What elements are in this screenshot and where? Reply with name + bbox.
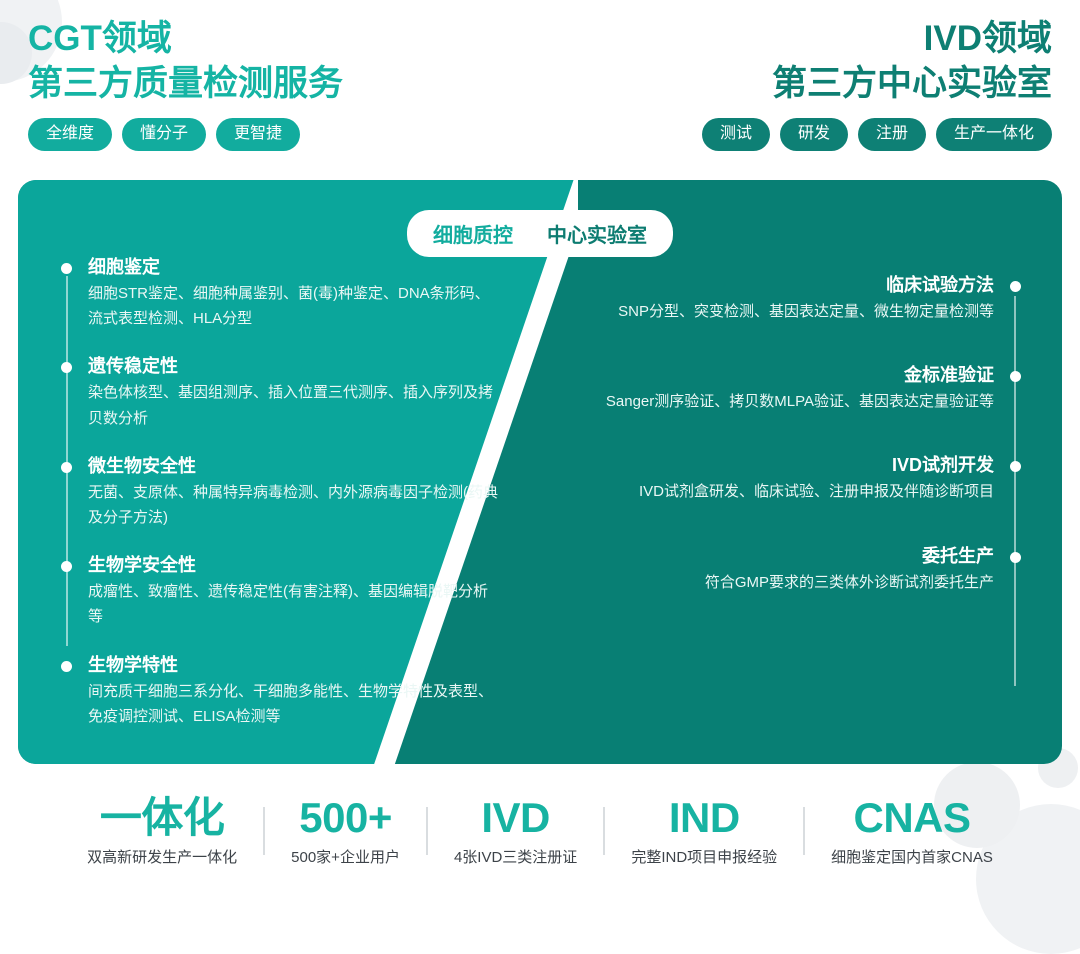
right-service-list: 临床试验方法 SNP分型、突变检测、基因表达定量、微生物定量检测等 金标准验证 … xyxy=(501,180,1062,764)
list-item[interactable]: 遗传稳定性 染色体核型、基因组测序、插入位置三代测序、插入序列及拷贝数分析 xyxy=(60,353,501,430)
bullet-dot-icon xyxy=(61,263,72,274)
ivd-title-line2: 第三方中心实验室 xyxy=(772,63,1052,106)
item-description: SNP分型、突变检测、基因表达定量、微生物定量检测等 xyxy=(564,299,994,324)
chip-quanweidu[interactable]: 全维度 xyxy=(28,118,112,151)
item-title: 微生物安全性 xyxy=(88,453,501,480)
stat-label: 双高新研发生产一体化 xyxy=(87,846,237,867)
header-left-block: CGT领域 第三方质量检测服务 全维度 懂分子 更智捷 xyxy=(28,18,343,180)
item-description: 无菌、支原体、种属特异病毒检测、内外源病毒因子检测(药典及分子方法) xyxy=(88,480,501,530)
item-description: 染色体核型、基因组测序、插入位置三代测序、插入序列及拷贝数分析 xyxy=(88,380,501,430)
stat-item-cnas: CNAS 细胞鉴定国内首家CNAS xyxy=(805,795,1019,867)
item-title: 细胞鉴定 xyxy=(88,254,501,281)
list-item[interactable]: 金标准验证 Sanger测序验证、拷贝数MLPA验证、基因表达定量验证等 xyxy=(501,362,1022,414)
list-item[interactable]: 生物学安全性 成瘤性、致瘤性、遗传稳定性(有害注释)、基因编辑脱靶分析等 xyxy=(60,552,501,629)
item-description: 符合GMP要求的三类体外诊断试剂委托生产 xyxy=(524,570,994,595)
item-description: 成瘤性、致瘤性、遗传稳定性(有害注释)、基因编辑脱靶分析等 xyxy=(88,579,501,629)
cgt-title-line1: CGT领域 xyxy=(28,18,343,61)
stat-item-integration: 一体化 双高新研发生产一体化 xyxy=(61,795,263,867)
bullet-dot-icon xyxy=(61,561,72,572)
cgt-title-line2: 第三方质量检测服务 xyxy=(28,63,343,106)
bullet-dot-icon xyxy=(1010,371,1021,382)
stat-item-ivd: IVD 4张IVD三类注册证 xyxy=(428,795,603,867)
list-item[interactable]: 细胞鉴定 细胞STR鉴定、细胞种属鉴别、菌(毒)种鉴定、DNA条形码、流式表型检… xyxy=(60,254,501,331)
chip-shengchan[interactable]: 生产一体化 xyxy=(936,118,1052,151)
item-description: 间充质干细胞三系分化、干细胞多能性、生物学特性及表型、免疫调控测试、ELISA检… xyxy=(88,679,501,729)
ivd-chip-group: 测试 研发 注册 生产一体化 xyxy=(702,118,1052,151)
chip-yanfa[interactable]: 研发 xyxy=(780,118,848,151)
list-item[interactable]: 临床试验方法 SNP分型、突变检测、基因表达定量、微生物定量检测等 xyxy=(501,272,1022,324)
tab-central-laboratory[interactable]: 中心实验室 xyxy=(547,219,647,248)
item-title: 遗传稳定性 xyxy=(88,353,501,380)
item-description: 细胞STR鉴定、细胞种属鉴别、菌(毒)种鉴定、DNA条形码、流式表型检测、HLA… xyxy=(88,281,501,331)
stat-item-customers: 500+ 500家+企业用户 xyxy=(265,795,426,867)
stat-label: 完整IND项目申报经验 xyxy=(631,846,777,867)
item-title: 金标准验证 xyxy=(501,362,994,389)
list-item[interactable]: 生物学特性 间充质干细胞三系分化、干细胞多能性、生物学特性及表型、免疫调控测试、… xyxy=(60,652,501,729)
stat-label: 细胞鉴定国内首家CNAS xyxy=(831,846,993,867)
bullet-dot-icon xyxy=(61,462,72,473)
stat-number: IVD xyxy=(481,795,550,840)
bullet-dot-icon xyxy=(61,661,72,672)
stat-label: 500家+企业用户 xyxy=(291,846,400,867)
bullet-dot-icon xyxy=(1010,281,1021,292)
item-title: 生物学安全性 xyxy=(88,552,501,579)
bullet-dot-icon xyxy=(1010,461,1021,472)
stat-number: 一体化 xyxy=(100,795,225,840)
stat-number: 500+ xyxy=(299,795,392,840)
item-title: 生物学特性 xyxy=(88,652,501,679)
item-description: IVD试剂盒研发、临床试验、注册申报及伴随诊断项目 xyxy=(524,479,994,504)
chip-zhuce[interactable]: 注册 xyxy=(858,118,926,151)
cgt-chip-group: 全维度 懂分子 更智捷 xyxy=(28,118,343,151)
chip-dongfenzi[interactable]: 懂分子 xyxy=(122,118,206,151)
tab-bar: 细胞质控 中心实验室 xyxy=(407,210,673,257)
stats-bar: 一体化 双高新研发生产一体化 500+ 500家+企业用户 IVD 4张IVD三… xyxy=(0,764,1080,892)
bullet-dot-icon xyxy=(61,362,72,373)
item-title: 临床试验方法 xyxy=(501,272,994,299)
stat-number: IND xyxy=(669,795,740,840)
chip-gengzhijie[interactable]: 更智捷 xyxy=(216,118,300,151)
list-item[interactable]: 委托生产 符合GMP要求的三类体外诊断试剂委托生产 xyxy=(501,543,1022,595)
bullet-dot-icon xyxy=(1010,552,1021,563)
content-panel: 细胞质控 中心实验室 细胞鉴定 细胞STR鉴定、细胞种属鉴别、菌(毒)种鉴定、D… xyxy=(18,180,1062,764)
tab-cell-quality-control[interactable]: 细胞质控 xyxy=(433,219,513,248)
header-right-block: IVD领域 第三方中心实验室 测试 研发 注册 生产一体化 xyxy=(702,18,1052,180)
item-description: Sanger测序验证、拷贝数MLPA验证、基因表达定量验证等 xyxy=(564,389,994,414)
stat-label: 4张IVD三类注册证 xyxy=(454,846,577,867)
stat-item-ind: IND 完整IND项目申报经验 xyxy=(605,795,803,867)
item-title: IVD试剂开发 xyxy=(501,452,994,479)
stat-number: CNAS xyxy=(853,795,970,840)
ivd-title-line1: IVD领域 xyxy=(924,18,1052,61)
list-item[interactable]: 微生物安全性 无菌、支原体、种属特异病毒检测、内外源病毒因子检测(药典及分子方法… xyxy=(60,453,501,530)
item-title: 委托生产 xyxy=(501,543,994,570)
panel-columns: 细胞鉴定 细胞STR鉴定、细胞种属鉴别、菌(毒)种鉴定、DNA条形码、流式表型检… xyxy=(18,180,1062,764)
left-service-list: 细胞鉴定 细胞STR鉴定、细胞种属鉴别、菌(毒)种鉴定、DNA条形码、流式表型检… xyxy=(18,180,501,764)
header: CGT领域 第三方质量检测服务 全维度 懂分子 更智捷 IVD领域 第三方中心实… xyxy=(0,0,1080,180)
chip-ceshi[interactable]: 测试 xyxy=(702,118,770,151)
list-item[interactable]: IVD试剂开发 IVD试剂盒研发、临床试验、注册申报及伴随诊断项目 xyxy=(501,452,1022,504)
